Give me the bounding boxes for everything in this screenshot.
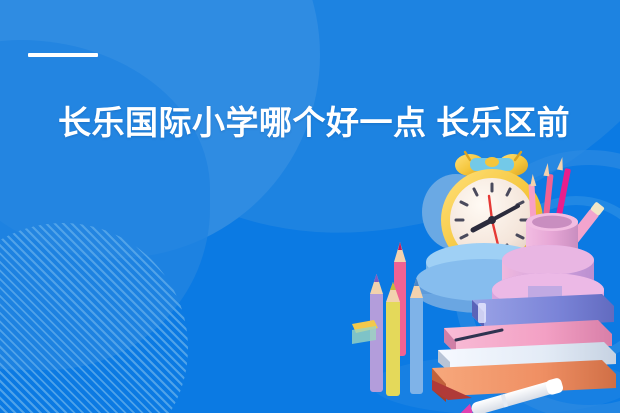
background-hatch-corner	[0, 223, 188, 413]
background-wedge-shape	[0, 40, 210, 370]
school-supplies-illustration	[352, 150, 620, 413]
accent-rule	[28, 53, 98, 57]
colored-pencils-graphic	[352, 242, 423, 396]
promo-banner: 长乐国际小学哪个好一点 长乐区前	[0, 0, 620, 413]
page-title: 长乐国际小学哪个好一点 长乐区前	[58, 104, 618, 143]
